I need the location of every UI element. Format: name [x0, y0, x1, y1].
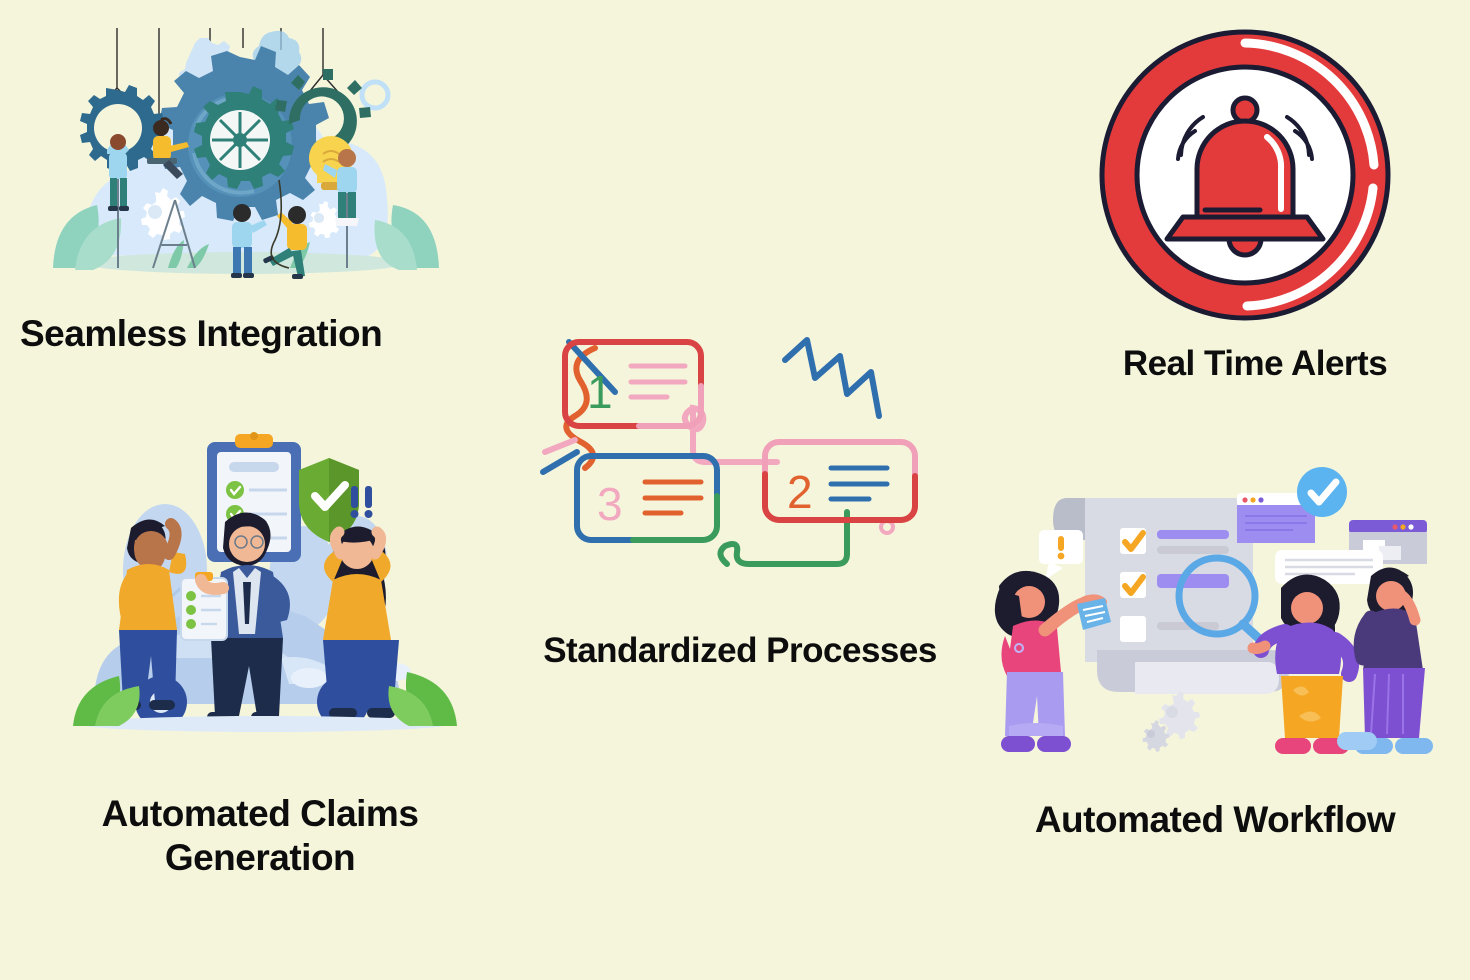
feature-automated-claims-generation: Automated Claims Generation — [35, 420, 485, 879]
svg-text:2: 2 — [787, 466, 813, 518]
feature-real-time-alerts: Real Time Alerts — [1040, 25, 1470, 384]
feature-caption: Real Time Alerts — [1040, 343, 1470, 384]
blue-dash — [543, 452, 577, 472]
workflow-checklist-people-illustration — [975, 450, 1445, 780]
alert-bell-badge-icon — [1095, 25, 1395, 325]
feature-automated-workflow: Automated Workflow — [975, 450, 1455, 842]
feature-caption: Automated Claims Generation — [35, 792, 485, 879]
feature-seamless-integration: Seamless Integration — [0, 20, 470, 356]
feature-caption: Automated Workflow — [975, 798, 1455, 842]
pink-dash — [545, 440, 575, 452]
svg-text:1: 1 — [587, 366, 613, 418]
process-card-2: 2 — [765, 442, 915, 520]
feature-caption: Seamless Integration — [20, 312, 470, 356]
claims-people-clipboard-car-illustration — [65, 420, 465, 770]
blue-zigzag — [785, 340, 879, 416]
gears-teamwork-illustration — [35, 20, 455, 290]
numbered-process-cards-illustration: 1 2 — [535, 320, 955, 620]
feature-standardized-processes: 1 2 — [490, 320, 990, 671]
feature-caption: Standardized Processes — [490, 630, 990, 671]
infographic-canvas: Seamless Integration — [0, 0, 1470, 980]
svg-text:3: 3 — [597, 478, 623, 530]
process-card-3: 3 — [577, 456, 717, 540]
